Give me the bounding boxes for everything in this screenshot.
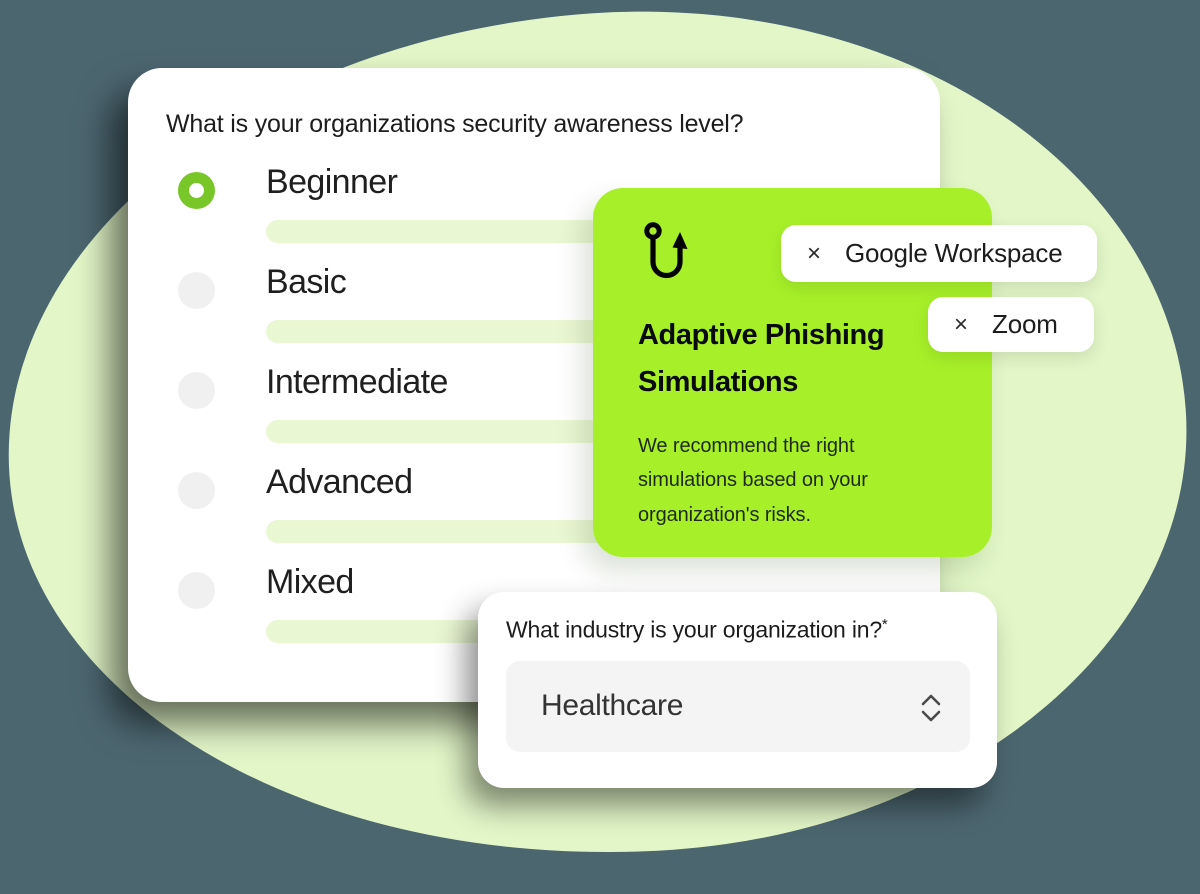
industry-question-card: What industry is your organization in?* … bbox=[478, 592, 997, 788]
chip-zoom[interactable]: × Zoom bbox=[928, 297, 1094, 352]
option-label: Advanced bbox=[266, 463, 412, 502]
survey-question-label: What is your organizations security awar… bbox=[166, 108, 743, 141]
screenshot-stage: What is your organizations security awar… bbox=[0, 0, 1200, 863]
option-label: Beginner bbox=[266, 163, 397, 202]
option-label: Intermediate bbox=[266, 363, 448, 402]
option-label: Basic bbox=[266, 263, 346, 302]
close-icon[interactable]: × bbox=[807, 242, 821, 266]
chip-label: Zoom bbox=[992, 309, 1058, 340]
industry-select[interactable]: Healthcare bbox=[506, 661, 970, 752]
radio-button-mixed[interactable] bbox=[178, 572, 215, 609]
radio-button-advanced[interactable] bbox=[178, 472, 215, 509]
chip-label: Google Workspace bbox=[845, 238, 1062, 269]
industry-question-text: What industry is your organization in? bbox=[506, 617, 882, 643]
industry-selected-value: Healthcare bbox=[541, 689, 683, 723]
industry-question-label: What industry is your organization in?* bbox=[506, 616, 888, 644]
chip-google-workspace[interactable]: × Google Workspace bbox=[781, 225, 1097, 282]
close-icon[interactable]: × bbox=[954, 313, 968, 337]
required-marker: * bbox=[882, 616, 888, 633]
feature-card-title: Adaptive Phishing Simulations bbox=[638, 312, 938, 406]
option-label: Mixed bbox=[266, 563, 354, 602]
feature-card-description: We recommend the right simulations based… bbox=[638, 429, 928, 532]
radio-button-intermediate[interactable] bbox=[178, 372, 215, 409]
radio-button-beginner[interactable] bbox=[178, 172, 215, 209]
radio-button-basic[interactable] bbox=[178, 272, 215, 309]
chevron-up-down-icon[interactable] bbox=[918, 691, 944, 725]
fish-hook-icon bbox=[637, 222, 689, 288]
